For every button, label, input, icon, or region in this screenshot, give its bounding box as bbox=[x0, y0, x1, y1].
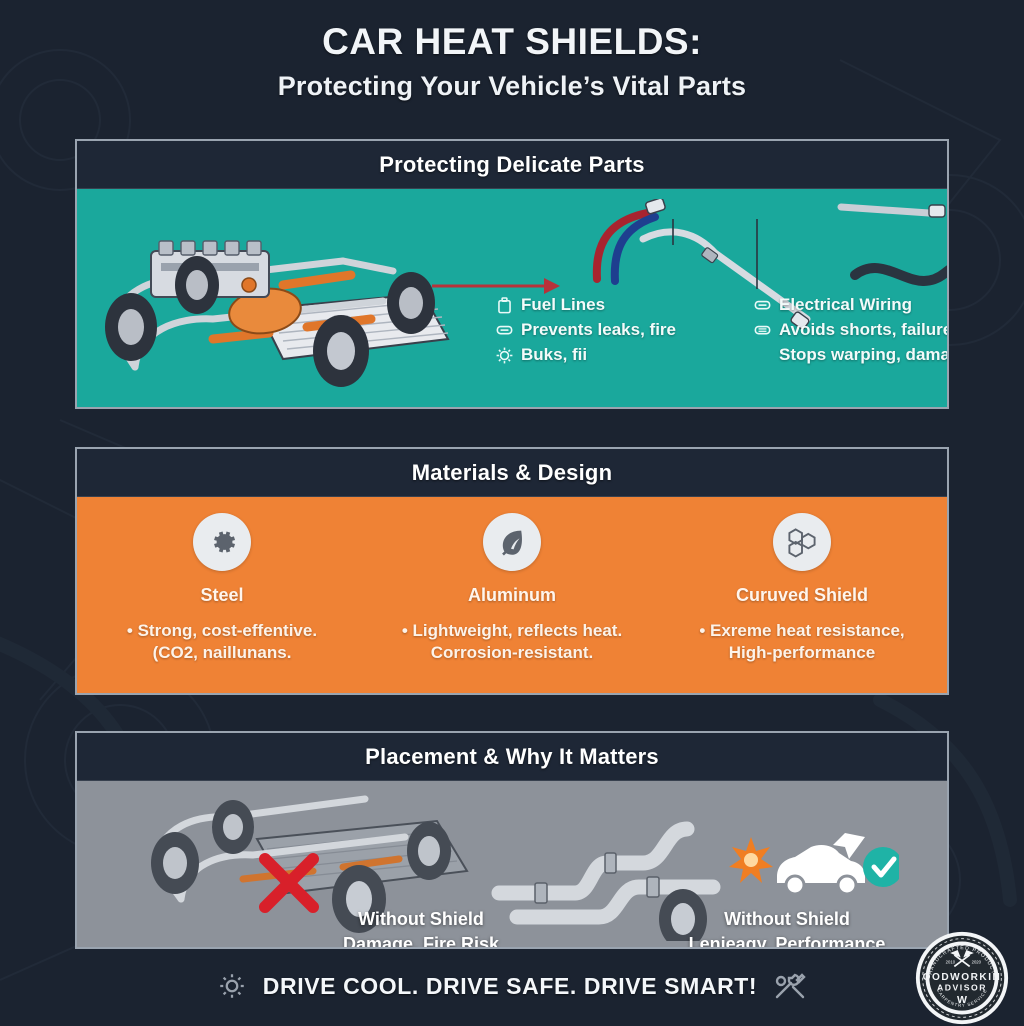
page-title: CAR HEAT SHIELDS: bbox=[0, 22, 1024, 62]
section-placement-and-why-it-matters: Placement & Why It Matters bbox=[75, 731, 949, 949]
feature-label: Prevents leaks, fire bbox=[521, 320, 676, 340]
badge-line2: ADVISOR bbox=[937, 982, 987, 992]
feature-item: Avoids shorts, failures bbox=[753, 320, 947, 340]
section-2-title: Materials & Design bbox=[412, 460, 612, 486]
honeycomb-icon bbox=[784, 524, 820, 560]
material-card-curved-shield: Curuved Shield • Exreme heat resistance,… bbox=[657, 513, 947, 665]
material-desc-line1: • Exreme heat resistance, bbox=[665, 620, 939, 642]
gear-icon bbox=[205, 525, 239, 559]
gear-icon bbox=[217, 971, 247, 1001]
section-materials-and-design: Materials & Design Steel • Strong, cost-… bbox=[75, 447, 949, 695]
placement-label-line1: Without Shield bbox=[667, 909, 907, 930]
feature-label: Buks, fii bbox=[521, 345, 587, 365]
fuel-can-icon bbox=[495, 296, 514, 315]
material-desc-line1: • Strong, cost-effentive. bbox=[85, 620, 359, 642]
material-desc-line2: (CO2, naillunans. bbox=[85, 642, 359, 664]
badge-year-left: 2010 bbox=[946, 960, 956, 965]
feature-item: Prevents leaks, fire bbox=[495, 320, 676, 340]
footer-bar: DRIVE COOL. DRIVE SAFE. DRIVE SMART! bbox=[0, 955, 1024, 1017]
feature-label: Stops warping, damage bbox=[779, 345, 947, 365]
material-name: Aluminum bbox=[375, 585, 649, 606]
material-desc-line2: High-performance bbox=[665, 642, 939, 664]
brand-badge: HANDCRAFTED PRODUCT CARPENTRY SERVICE 20… bbox=[914, 930, 1010, 1026]
placement-label-line2: Damage, Fire Risk bbox=[321, 934, 521, 947]
placement-label-left: Without Shield Damage, Fire Risk bbox=[321, 909, 521, 947]
placement-label-right: Without Shield Lenieagy, Performance bbox=[667, 909, 907, 947]
badge-monogram: W bbox=[957, 994, 967, 1006]
badge-year-right: 2020 bbox=[972, 960, 982, 965]
tools-icon bbox=[773, 971, 807, 1001]
page-header: CAR HEAT SHIELDS: Protecting Your Vehicl… bbox=[0, 0, 1024, 102]
material-name: Steel bbox=[85, 585, 359, 606]
placement-label-line2: Lenieagy, Performance bbox=[667, 934, 907, 947]
infographic-page: CAR HEAT SHIELDS: Protecting Your Vehicl… bbox=[0, 0, 1024, 1024]
feature-label: Fuel Lines bbox=[521, 295, 605, 315]
section-3-header-bar: Placement & Why It Matters bbox=[77, 733, 947, 781]
material-icon-bubble bbox=[193, 513, 251, 571]
fuel-lines-feature-column: Fuel Lines Prevents leaks, fire bbox=[495, 295, 676, 370]
feature-label: Electrical Wiring bbox=[779, 295, 912, 315]
feature-label: Avoids shorts, failures bbox=[779, 320, 947, 340]
material-desc-line1: • Lightweight, reflects heat. bbox=[375, 620, 649, 642]
section-3-body: Without Shield Damage, Fire Risk Without… bbox=[77, 781, 947, 947]
section-1-title: Protecting Delicate Parts bbox=[379, 152, 644, 178]
page-subtitle: Protecting Your Vehicle’s Vital Parts bbox=[0, 71, 1024, 102]
gear-icon bbox=[495, 346, 514, 365]
feature-item: Electrical Wiring bbox=[753, 295, 947, 315]
wiring-icon bbox=[753, 296, 772, 315]
electrical-wiring-feature-column: Electrical Wiring Avoids shorts, failure… bbox=[753, 295, 947, 370]
shield-stack-icon bbox=[495, 321, 514, 340]
materials-grid: Steel • Strong, cost-effentive. (CO2, na… bbox=[77, 497, 947, 693]
material-icon-bubble bbox=[483, 513, 541, 571]
section-2-header-bar: Materials & Design bbox=[77, 449, 947, 497]
leaf-icon bbox=[495, 525, 529, 559]
section-1-body: Fuel ite leaks, fire Fuel Lines Prevents bbox=[77, 189, 947, 407]
section-3-title: Placement & Why It Matters bbox=[365, 744, 659, 770]
car-impact-illustration bbox=[729, 831, 899, 901]
footer-tagline: DRIVE COOL. DRIVE SAFE. DRIVE SMART! bbox=[263, 973, 757, 1000]
burst-icon bbox=[729, 837, 773, 883]
section-2-body: Steel • Strong, cost-effentive. (CO2, na… bbox=[77, 497, 947, 693]
material-desc-line2: Corrosion-resistant. bbox=[375, 642, 649, 664]
check-icon bbox=[863, 847, 899, 887]
section-protecting-delicate-parts: Protecting Delicate Parts bbox=[75, 139, 949, 409]
section-1-header-bar: Protecting Delicate Parts bbox=[77, 141, 947, 189]
material-card-steel: Steel • Strong, cost-effentive. (CO2, na… bbox=[77, 513, 367, 665]
feature-item: Stops warping, damage bbox=[753, 345, 947, 365]
placement-label-line1: Without Shield bbox=[321, 909, 521, 930]
material-card-aluminum: Aluminum • Lightweight, reflects heat. C… bbox=[367, 513, 657, 665]
feature-item: Buks, fii bbox=[495, 345, 676, 365]
material-icon-bubble bbox=[773, 513, 831, 571]
feature-item: Fuel Lines bbox=[495, 295, 676, 315]
badge-line1: OODWORKIN bbox=[923, 972, 1002, 983]
shield-stack-icon bbox=[753, 321, 772, 340]
material-name: Curuved Shield bbox=[665, 585, 939, 606]
chassis-engine-illustration bbox=[93, 199, 493, 399]
red-x-icon bbox=[255, 849, 323, 917]
